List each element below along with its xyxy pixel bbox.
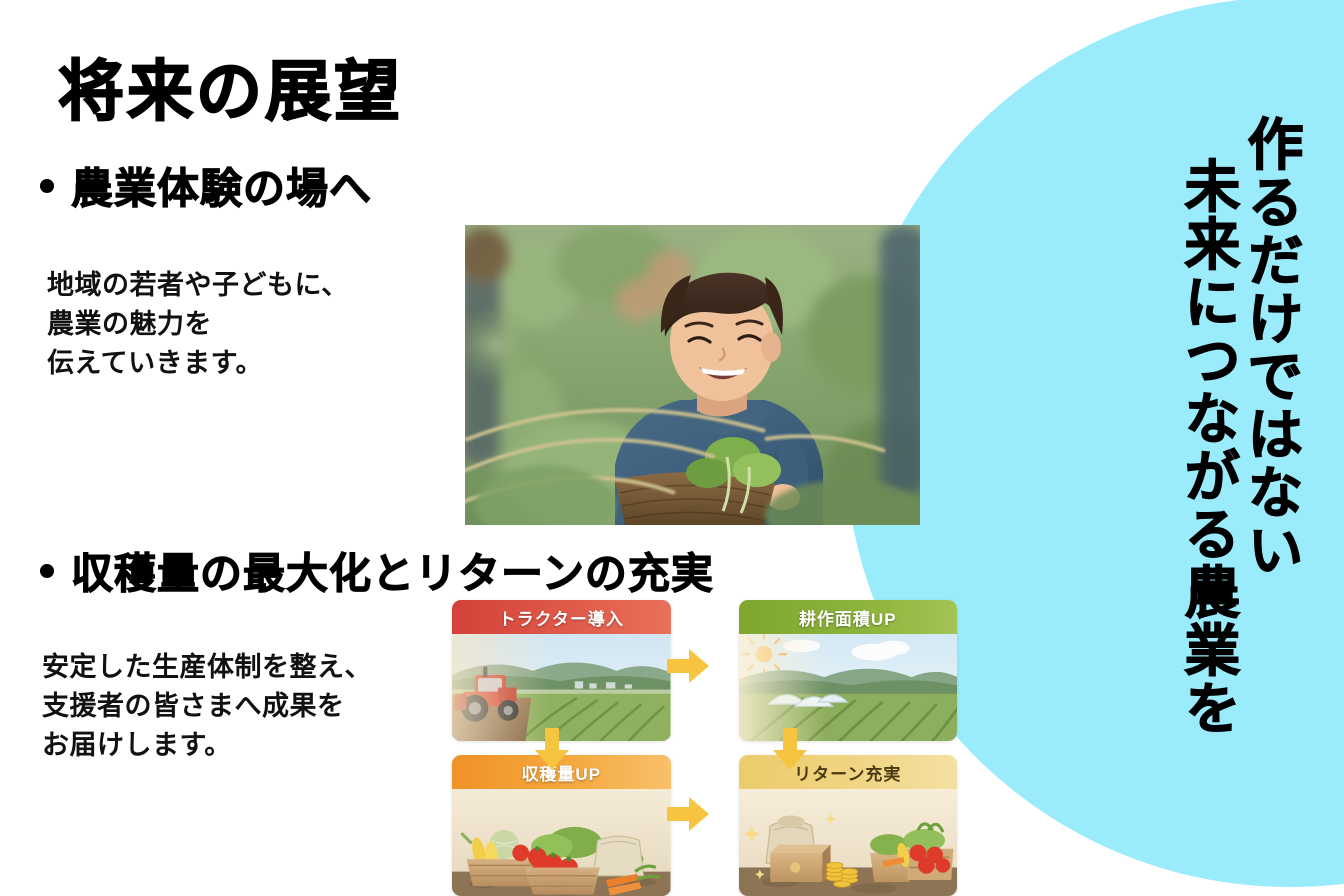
tagline-line-right: 作るだけではない <box>1243 115 1300 815</box>
bullet-item-1: 農業体験の場へ <box>40 155 372 216</box>
flow-panel-cultivated-area: 耕作面積UP <box>739 600 958 741</box>
page-title: 将来の展望 <box>58 38 403 134</box>
arrow-down-right-icon <box>772 728 808 770</box>
flow-art-greenhouse-field <box>739 634 958 741</box>
bullet-item-2: 収穫量の最大化とリターンの充実 <box>40 540 714 601</box>
slide-canvas: 作るだけではない 未来につながる農業を 将来の展望 農業体験の場へ 地域の若者や… <box>0 0 1344 896</box>
flow-art-tractor-field <box>452 634 671 741</box>
bullet-label-1: 農業体験の場へ <box>71 155 372 216</box>
vertical-tagline: 作るだけではない 未来につながる農業を <box>1090 115 1300 815</box>
flow-panel-harvest-up: 収穫量UP <box>452 755 671 896</box>
arrow-right-top-icon <box>667 648 709 684</box>
body-text-2: 安定した生産体制を整え、 支援者の皆さまへ成果を お届けします。 <box>42 648 372 765</box>
body-text-1: 地域の若者や子どもに、 農業の魅力を 伝えていきます。 <box>47 266 349 383</box>
flow-panel-return: リターン充実 <box>739 755 958 896</box>
photo-artwork <box>465 225 920 525</box>
farm-experience-photo <box>465 225 920 525</box>
bullet-dot-icon <box>40 564 54 578</box>
flow-panel-tractor: トラクター導入 <box>452 600 671 741</box>
flow-panel-label-1: トラクター導入 <box>452 600 671 634</box>
arrow-down-left-icon <box>534 728 570 770</box>
bullet-dot-icon <box>40 179 54 193</box>
flow-art-harvest-crates <box>452 789 671 896</box>
bullet-label-2: 収穫量の最大化とリターンの充実 <box>71 540 714 601</box>
flow-art-return-boxes-coins <box>739 789 958 896</box>
arrow-right-bottom-icon <box>667 796 709 832</box>
flow-diagram: トラクター導入 <box>452 600 957 896</box>
flow-panel-label-2: 耕作面積UP <box>739 600 958 634</box>
tagline-line-left: 未来につながる農業を <box>1180 157 1237 815</box>
